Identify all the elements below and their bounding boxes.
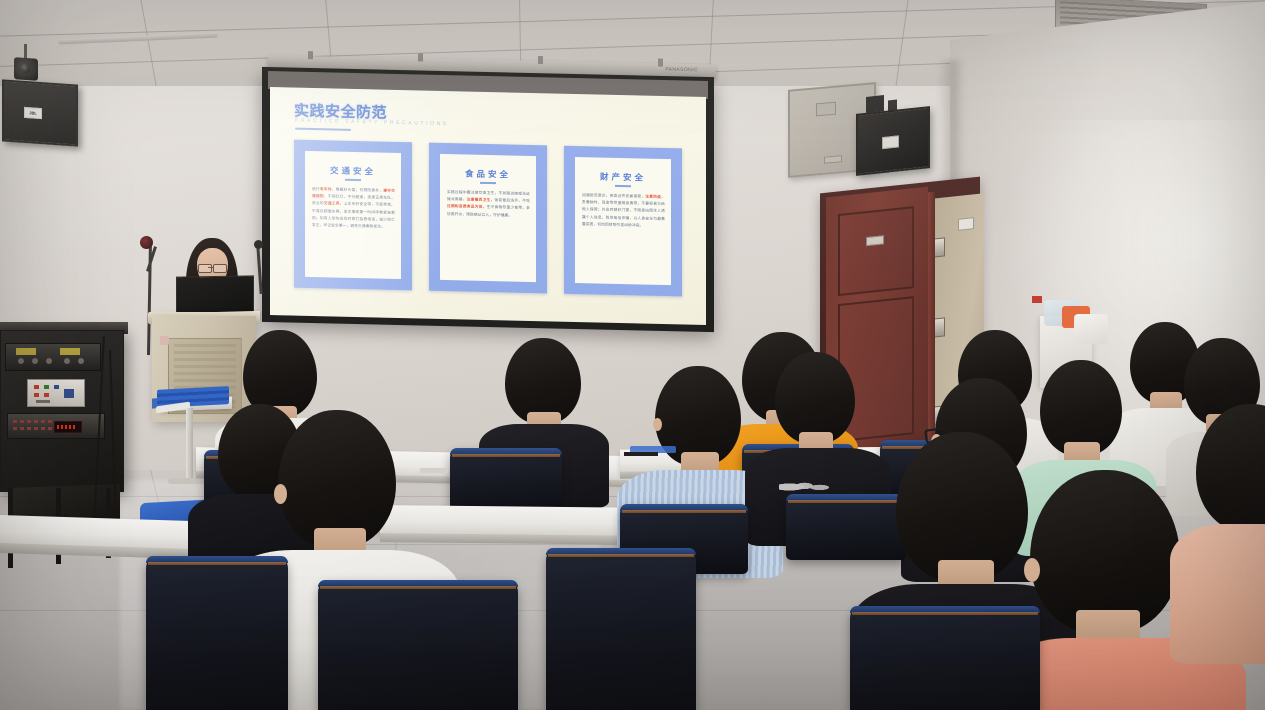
- card-heading-underline: [345, 179, 361, 181]
- slide-title-underline: [295, 128, 351, 131]
- slide-card-property-safety: 财产安全 加强防范意识，各类证件妥善保管，注意防盗，贵重物件、现金等尽量随身携带…: [564, 146, 682, 297]
- wall-switch-red[interactable]: [1032, 296, 1042, 303]
- podium-emblem: [160, 336, 169, 345]
- eyeglasses-left-lens: [198, 264, 212, 273]
- card-inner-panel: 财产安全 加强防范意识，各类证件妥善保管，注意防盗，贵重物件、现金等尽量随身携带…: [575, 157, 671, 285]
- card-inner-panel: 食品安全 实践过程中要注意饮食卫生，不到路边摊或无证摊点用餐，注意餐具卫生，饭前…: [440, 154, 536, 282]
- wall-speaker-jbl: JBL: [2, 79, 78, 146]
- wall-speaker-right: [856, 106, 930, 176]
- ear: [274, 484, 287, 504]
- panel-latch: [824, 155, 842, 164]
- card-heading: 交通安全: [305, 164, 401, 178]
- door-sign: [958, 217, 974, 231]
- chair-row3-a[interactable]: [146, 556, 288, 710]
- classroom-photo: JBL PANASONIC 实践安全防范 PRACTICE SAFETY PRE…: [0, 0, 1265, 710]
- chair-row3-c[interactable]: [546, 548, 696, 710]
- card-heading-underline: [480, 182, 496, 184]
- microphone-icon-right: [254, 240, 263, 249]
- amplifier-unit[interactable]: [5, 343, 101, 371]
- cart-pole: [186, 408, 193, 480]
- desk-item-paper: [420, 468, 448, 473]
- slide-subtitle: PRACTICE SAFETY PRECAUTIONS: [295, 118, 449, 127]
- projector-brand-label: PANASONIC: [665, 67, 698, 74]
- panel-label-plate: [816, 102, 836, 117]
- chair-row1-b[interactable]: [450, 448, 562, 510]
- jbl-logo-badge: JBL: [24, 107, 42, 119]
- surveillance-camera-icon: [14, 57, 38, 81]
- card-heading-underline: [615, 185, 631, 187]
- door-plate: [866, 235, 884, 246]
- chair-row3-b[interactable]: [318, 580, 518, 710]
- audio-deck[interactable]: [7, 413, 105, 439]
- card-heading: 财产安全: [575, 170, 671, 184]
- door-upper-panel: [838, 206, 914, 296]
- chair-row2-b[interactable]: [786, 494, 906, 560]
- torso: [1170, 524, 1265, 664]
- card-inner-panel: 交通安全 骑行电车时，需戴好头盔，可预防意外，遵守交通规则，不闯红灯、不行超速，…: [305, 151, 401, 279]
- slide-card-traffic-safety: 交通安全 骑行电车时，需戴好头盔，可预防意外，遵守交通规则，不闯红灯、不行超速，…: [294, 140, 412, 291]
- microphone-icon: [140, 236, 153, 249]
- head: [775, 352, 855, 444]
- card-body-text: 骑行电车时，需戴好头盔，可预防意外，遵守交通规则，不闯红灯、不行超速，选择正规车…: [312, 186, 395, 231]
- desk-item-dark: [624, 452, 658, 456]
- white-canister: [1074, 314, 1108, 344]
- av-equipment-rack: [0, 330, 124, 492]
- eyeglasses-bridge: [208, 267, 213, 268]
- card-heading: 食品安全: [440, 167, 536, 181]
- presentation-slide: 实践安全防范 PRACTICE SAFETY PRECAUTIONS 交通安全 …: [270, 87, 706, 325]
- eyeglasses-right-lens: [213, 264, 227, 273]
- card-body-text: 实践过程中要注意饮食卫生，不到路边摊或无证摊点用餐，注意餐具卫生，饭前便后洗手，…: [447, 189, 530, 220]
- led-display: [54, 421, 82, 433]
- speaker-brand-label: JBL: [25, 108, 41, 118]
- ear: [1024, 558, 1040, 582]
- card-body-text: 加强防范意识，各类证件妥善保管，注意防盗，贵重物件、现金等尽量随身携带，不要轻易…: [582, 192, 665, 230]
- slide-card-food-safety: 食品安全 实践过程中要注意饮食卫生，不到路边摊或无证摊点用餐，注意餐具卫生，饭前…: [429, 143, 547, 294]
- ear: [653, 418, 662, 431]
- mixer-control-panel[interactable]: [27, 379, 85, 407]
- chair-foreground-right[interactable]: [850, 606, 1040, 710]
